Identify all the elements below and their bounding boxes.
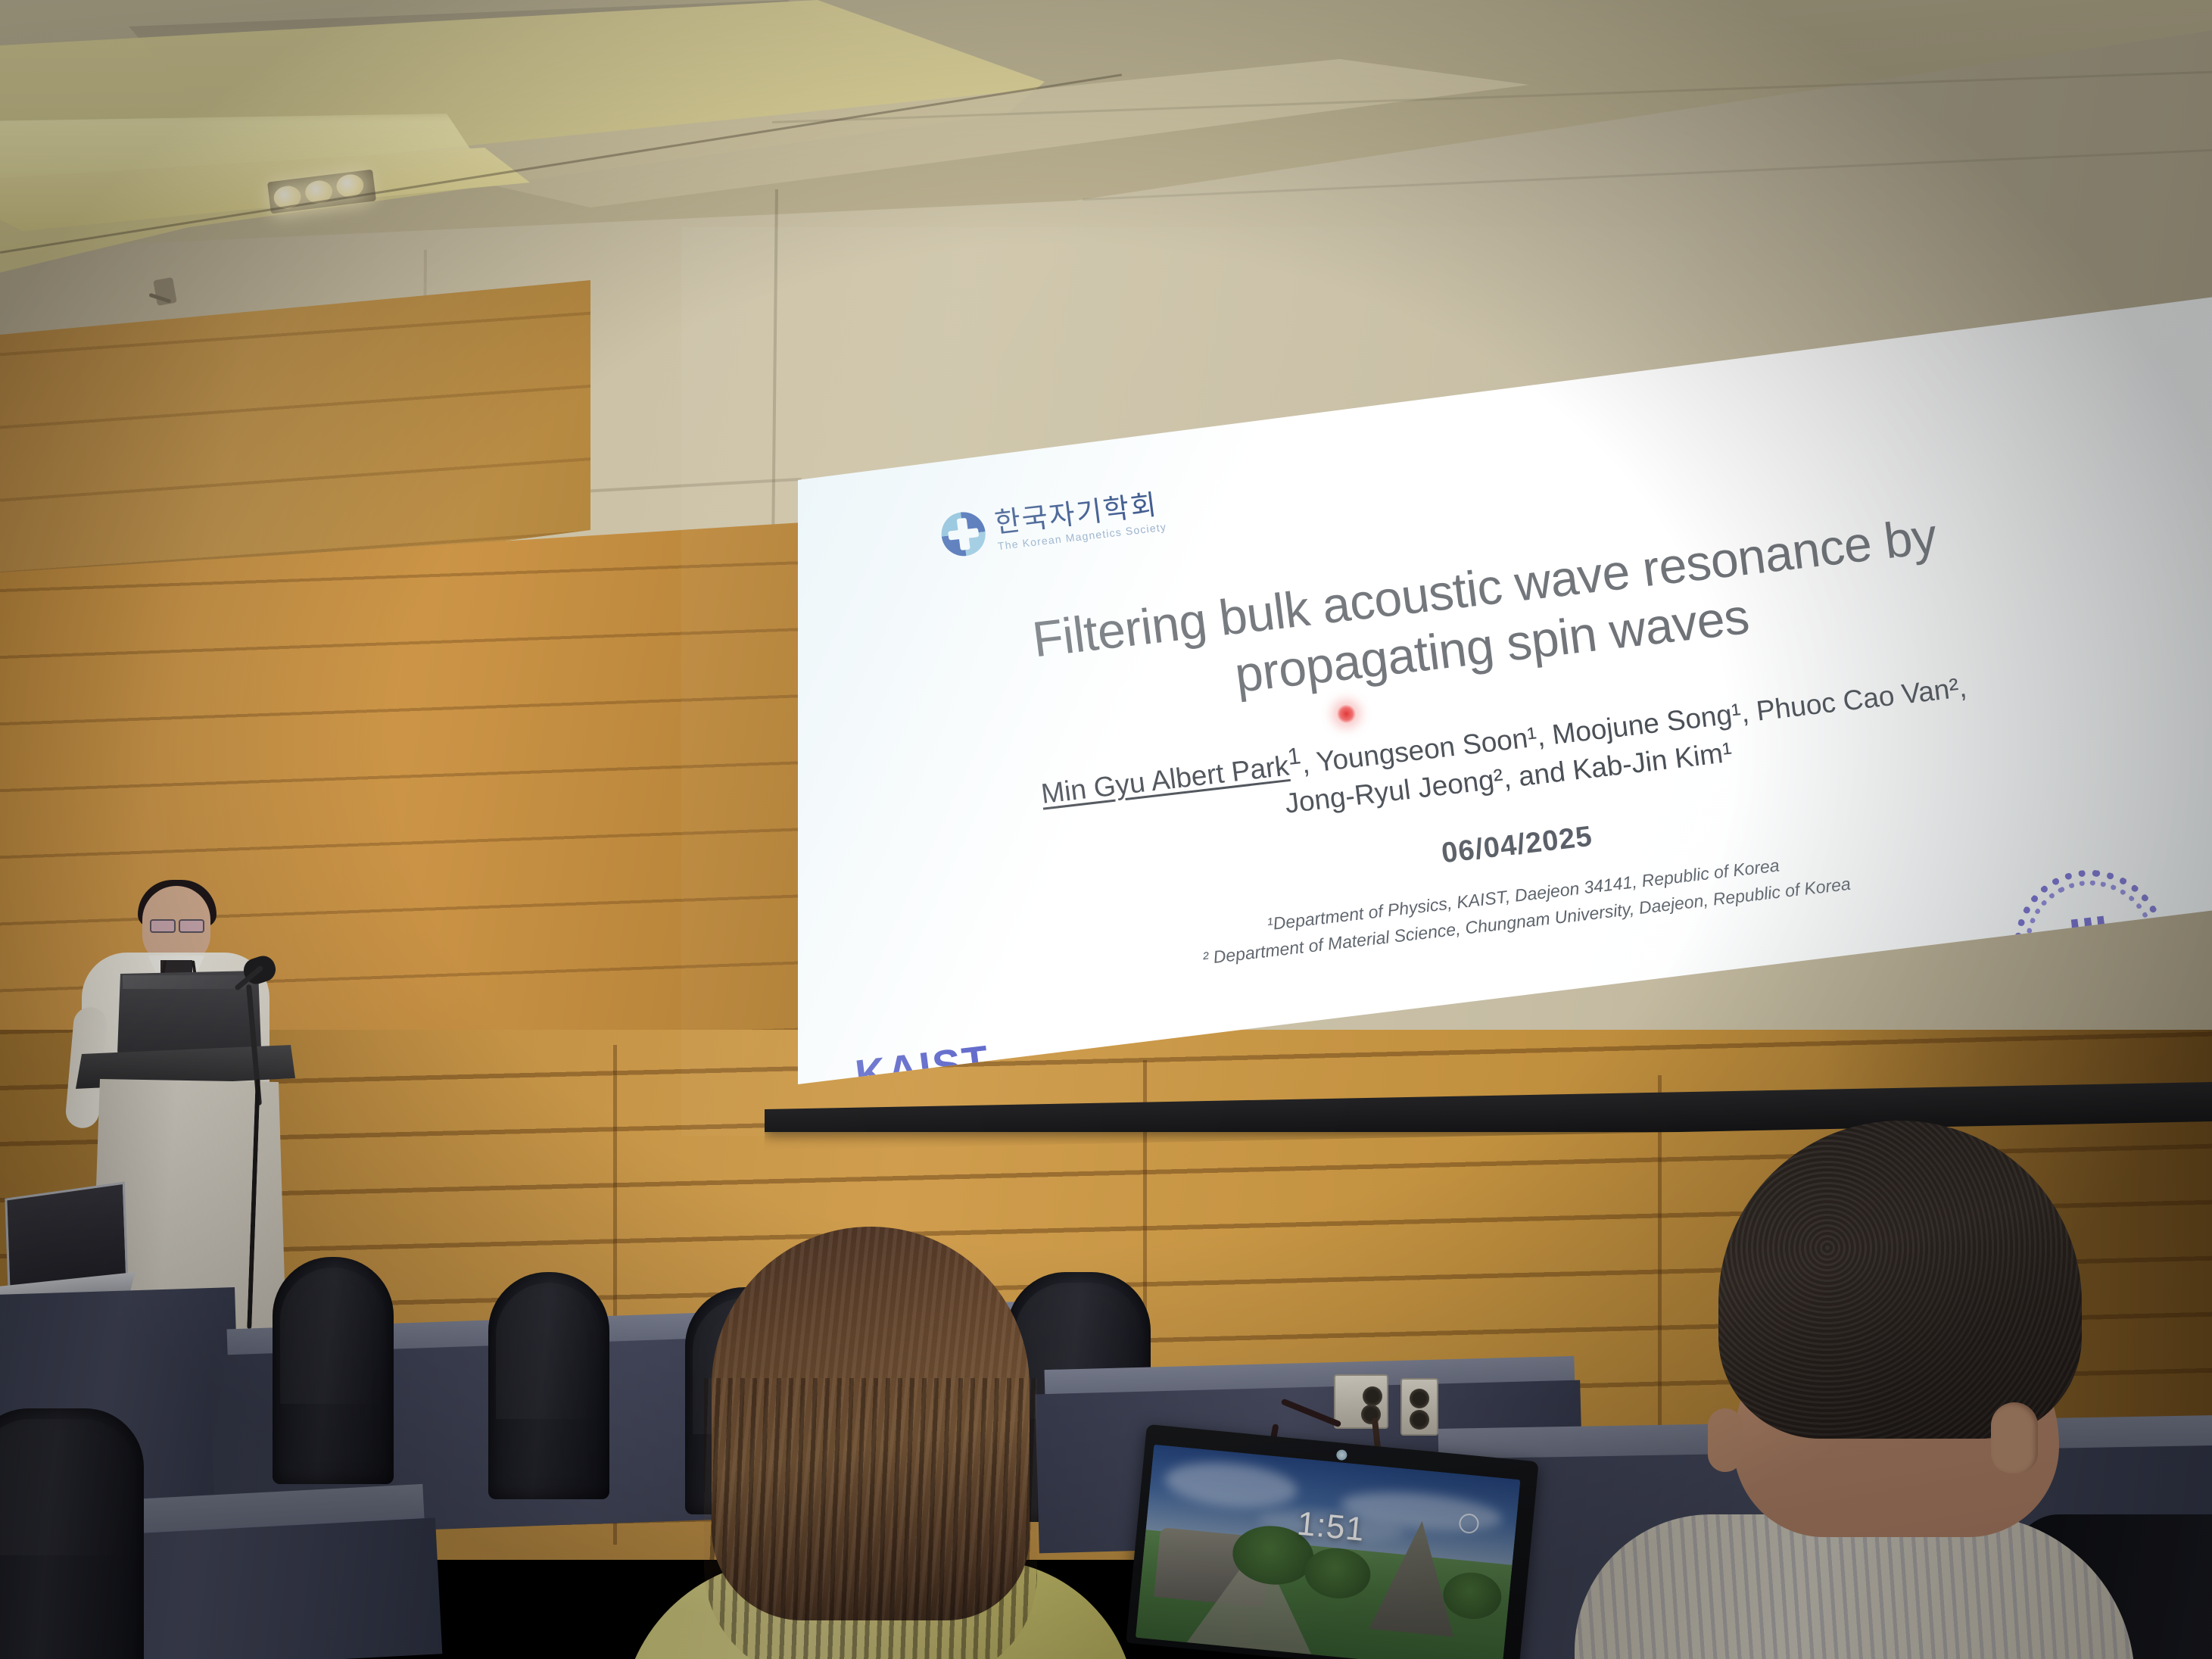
- outlet-socket-4: [1410, 1410, 1429, 1430]
- laptop-lock-screen[interactable]: 1:51: [1136, 1445, 1520, 1659]
- foreground-laptop[interactable]: 1:51: [1126, 1424, 1538, 1659]
- outlet-socket-3: [1410, 1389, 1429, 1408]
- presenter-glasses-icon: [150, 919, 204, 930]
- chair-1: [273, 1257, 394, 1484]
- chair-front-left: [0, 1408, 144, 1659]
- audience-right-hair: [1718, 1121, 2082, 1439]
- sprinkler-head-icon: [153, 277, 177, 306]
- podium-laptop-screen-sheen: [123, 975, 253, 989]
- magnetics-society-mark-icon: [939, 510, 988, 558]
- audience-left-hair-strands: [704, 1378, 1037, 1659]
- wall-outlet-left: [1334, 1374, 1388, 1429]
- audience-person-foreground-right: [1688, 1121, 2112, 1659]
- korean-magnetics-society-logo: 한국자기학회 The Korean Magnetics Society: [939, 489, 1167, 559]
- conference-room-photo: 한국자기학회 The Korean Magnetics Society Filt…: [0, 0, 2212, 1659]
- laser-pointer-dot: [1335, 703, 1357, 725]
- audience-right-ear: [1991, 1402, 2038, 1473]
- chair-2: [488, 1272, 609, 1499]
- outlet-socket-1: [1363, 1386, 1382, 1406]
- wall-outlet-right: [1400, 1378, 1438, 1436]
- audience-person-foreground-left: [712, 1227, 1030, 1659]
- audience-right-ear-far: [1708, 1408, 1743, 1472]
